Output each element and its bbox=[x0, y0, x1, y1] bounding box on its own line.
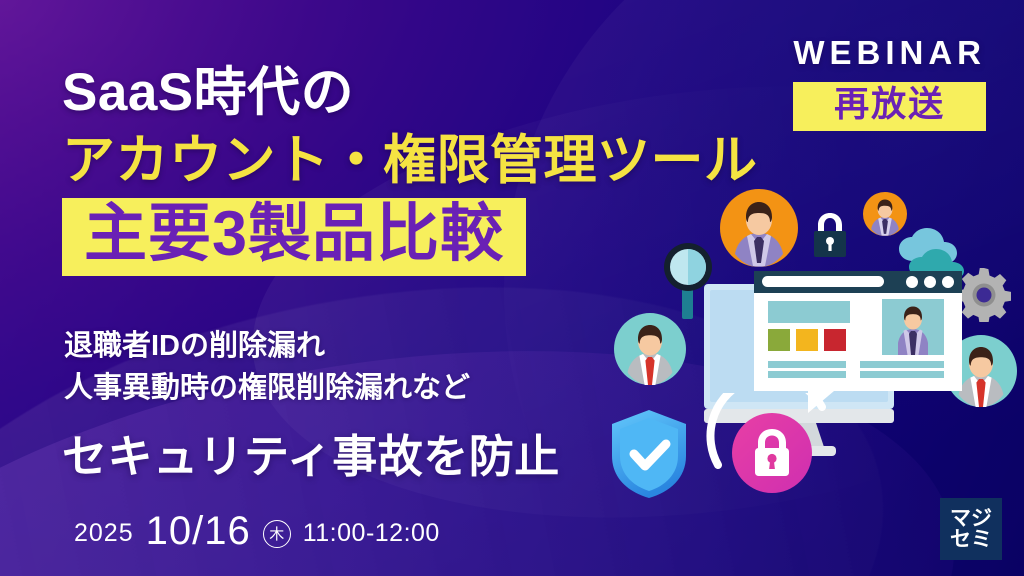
webinar-badge-group: WEBINAR 再放送 bbox=[793, 34, 986, 131]
headline-line-2: アカウント・権限管理ツール bbox=[62, 118, 758, 194]
webinar-banner: SaaS時代の アカウント・権限管理ツール 主要3製品比較 退職者IDの削除漏れ… bbox=[0, 0, 1024, 576]
lock-icon-dark bbox=[812, 211, 848, 261]
schedule-year: 2025 bbox=[74, 519, 134, 548]
avatar-teal-left bbox=[614, 313, 686, 385]
sub-line-2: 人事異動時の権限削除漏れなど bbox=[64, 364, 470, 406]
tagline: セキュリティ事故を防止 bbox=[62, 420, 560, 485]
shield-check-icon bbox=[610, 408, 688, 500]
schedule-month-day: 10/16 bbox=[146, 509, 251, 554]
highlight-band-text: 主要3製品比較 bbox=[84, 202, 504, 266]
rebroadcast-badge: 再放送 bbox=[793, 82, 986, 131]
logo-line-1: マジ bbox=[950, 508, 992, 529]
schedule-time: 11:00-12:00 bbox=[303, 519, 440, 548]
highlight-band: 主要3製品比較 bbox=[62, 198, 526, 276]
lock-icon-pink bbox=[732, 413, 812, 493]
logo-line-2: セミ bbox=[950, 529, 992, 550]
headline-line-1: SaaS時代の bbox=[62, 50, 354, 126]
schedule-line: 2025 10/16 木 11:00-12:00 bbox=[74, 506, 440, 551]
schedule-day-of-week: 木 bbox=[263, 520, 291, 548]
majiseminar-logo: マジ セミ bbox=[940, 498, 1002, 560]
webinar-label: WEBINAR bbox=[793, 34, 986, 72]
sub-line-1: 退職者IDの削除漏れ bbox=[64, 322, 325, 364]
illustration-group bbox=[600, 175, 1024, 515]
rebroadcast-label: 再放送 bbox=[809, 87, 970, 122]
avatar-orange-large bbox=[720, 189, 798, 267]
